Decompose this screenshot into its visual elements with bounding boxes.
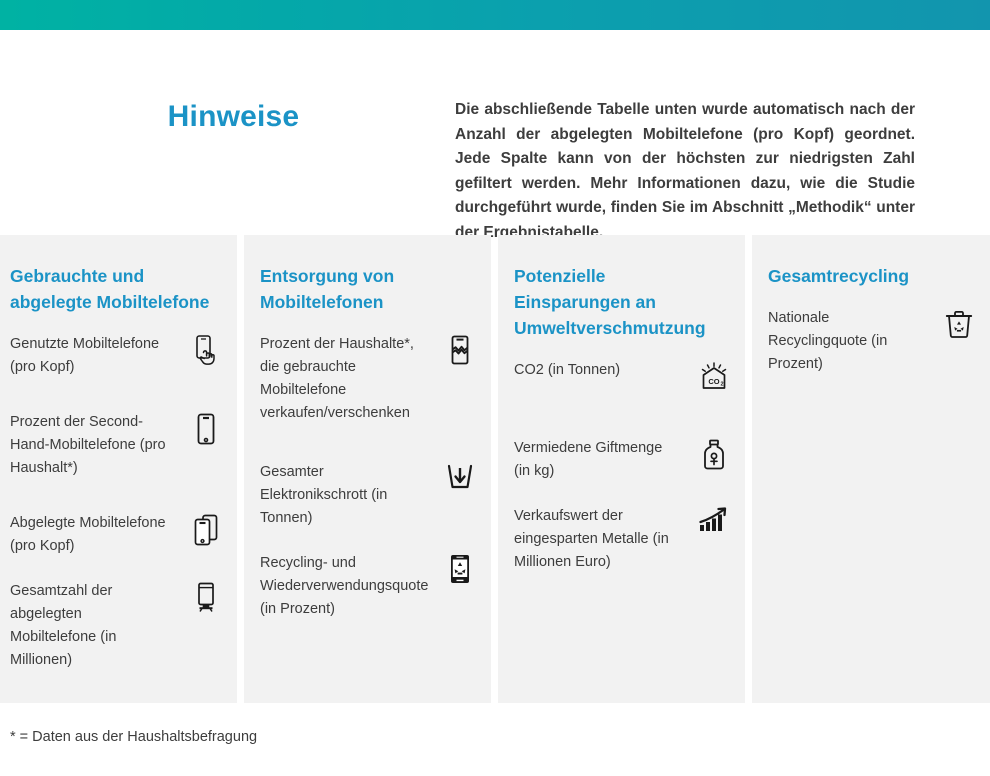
panel-title: Entsorgung von Mobiltelefonen: [260, 263, 470, 315]
metric-label: Gesamtzahl der abgelegten Mobiltelefone …: [10, 580, 172, 672]
metric-row: Gesamtzahl der abgelegten Mobiltelefone …: [10, 580, 223, 672]
intro-section: Hinweise Die abschließende Tabelle unten…: [0, 30, 990, 235]
metric-row: CO2 (in Tonnen) CO 2: [514, 359, 731, 403]
panel-title: Potenzielle Einsparungen an Umweltversch…: [514, 263, 719, 341]
panel-potenzielle-einsparungen-an-umweltverschmutzung: Potenzielle Einsparungen an Umweltversch…: [498, 235, 745, 703]
cracked-phone-icon: [443, 335, 477, 373]
metric-row: Recycling- und Wiederverwendungsquote (i…: [260, 552, 477, 621]
panel-gesamtrecycling: Gesamtrecycling Nationale Recyclingquote…: [752, 235, 990, 703]
panel-title: Gesamtrecycling: [768, 263, 976, 289]
metric-row: Prozent der Haushalte*, die gebrauchte M…: [260, 333, 477, 425]
metric-label: Prozent der Second-Hand-Mobiltelefone (p…: [10, 411, 172, 480]
metric-label: Vermiedene Giftmenge (in kg): [514, 437, 676, 483]
metric-row: Verkaufswert der eingesparten Metalle (i…: [514, 505, 731, 574]
metric-row: Nationale Recyclingquote (in Prozent): [768, 307, 976, 376]
svg-text:2: 2: [720, 382, 723, 388]
metric-row: Vermiedene Giftmenge (in kg): [514, 437, 731, 483]
metric-row: Prozent der Second-Hand-Mobiltelefone (p…: [10, 411, 223, 480]
metric-label: Prozent der Haushalte*, die gebrauchte M…: [260, 333, 422, 425]
intro-right-column: Die abschließende Tabelle unten wurde au…: [455, 60, 955, 245]
metric-label: Recycling- und Wiederverwendungsquote (i…: [260, 552, 422, 621]
metric-label: Abgelegte Mobiltelefone (pro Kopf): [10, 512, 172, 558]
metric-label: Verkaufswert der eingesparten Metalle (i…: [514, 505, 676, 574]
intro-paragraph: Die abschließende Tabelle unten wurde au…: [455, 98, 955, 245]
intro-left-column: Hinweise: [0, 60, 455, 134]
panel-title: Gebrauchte und abgelegte Mobiltelefone: [10, 263, 220, 315]
phone-recycle-icon: [443, 554, 477, 592]
waste-bin-arrow-icon: [443, 463, 477, 501]
co2-greenhouse-icon: CO 2: [697, 361, 731, 399]
poison-bottle-icon: [697, 439, 731, 477]
phone-on-stand-icon: [189, 582, 223, 620]
metric-label: Nationale Recyclingquote (in Prozent): [768, 307, 918, 376]
page-title: Hinweise: [0, 100, 455, 134]
metric-row: Genutzte Mobiltelefone (pro Kopf): [10, 333, 223, 379]
metric-label: CO2 (in Tonnen): [514, 359, 676, 382]
two-phones-icon: [189, 514, 223, 552]
panel-entsorgung-von-mobiltelefonen: Entsorgung von Mobiltelefonen Prozent de…: [244, 235, 491, 703]
footnote: * = Daten aus der Haushaltsbefragung: [0, 703, 990, 747]
phone-with-hand-icon: [189, 335, 223, 373]
growth-chart-icon: [697, 507, 731, 545]
metric-label: Gesamter Elektronikschrott (in Tonnen): [260, 461, 422, 530]
metric-row: Abgelegte Mobiltelefone (pro Kopf): [10, 512, 223, 558]
metric-row: Gesamter Elektronikschrott (in Tonnen): [260, 461, 477, 530]
smartphone-icon: [189, 413, 223, 451]
top-gradient-bar: [0, 0, 990, 30]
recycle-bin-icon: [942, 309, 976, 347]
metric-label: Genutzte Mobiltelefone (pro Kopf): [10, 333, 172, 379]
svg-text:CO: CO: [708, 377, 719, 386]
info-panels: Gebrauchte und abgelegte Mobiltelefone G…: [0, 235, 990, 703]
panel-gebrauchte-und-abgelegte-mobiltelefone: Gebrauchte und abgelegte Mobiltelefone G…: [0, 235, 237, 703]
